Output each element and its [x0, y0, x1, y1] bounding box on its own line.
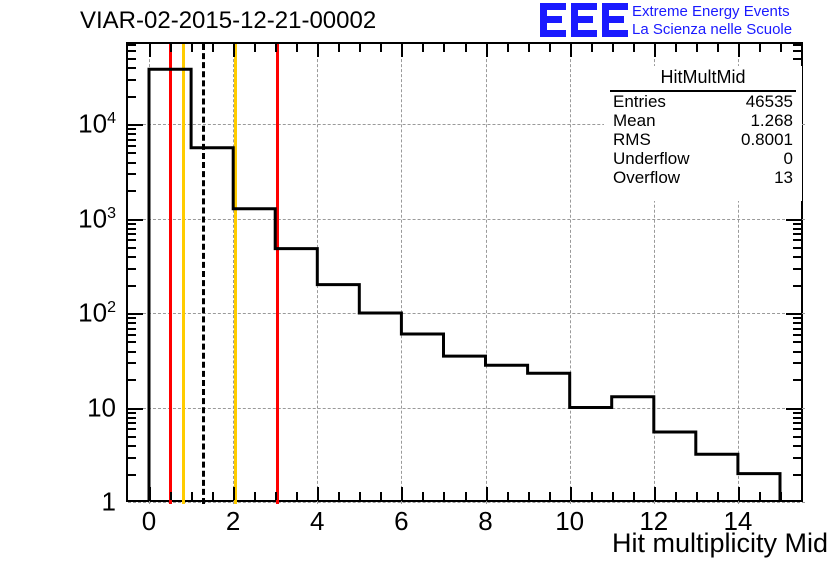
y-axis-tick [793, 247, 801, 249]
y-tick-label: 104 [58, 109, 116, 140]
x-axis-tick [338, 492, 340, 500]
y-tick-label: 1 [58, 487, 116, 518]
y-axis-tick [793, 351, 801, 353]
y-axis-tick [128, 124, 143, 126]
gridline-horizontal [128, 502, 805, 503]
eee-logo: Extreme Energy Events La Scienza nelle S… [540, 2, 832, 42]
logo-text: Extreme Energy Events La Scienza nelle S… [632, 3, 792, 39]
y-axis-tick [128, 228, 136, 230]
x-axis-tick [275, 44, 277, 52]
x-axis-tick [549, 492, 551, 500]
y-axis-tick [793, 44, 801, 46]
x-axis-tick [233, 44, 235, 57]
x-tick-label: 8 [478, 506, 492, 537]
y-axis-tick [793, 239, 801, 241]
y-axis-tick [793, 417, 801, 419]
stats-value: 46535 [746, 92, 793, 111]
x-axis-tick [401, 487, 403, 500]
y-axis-tick [793, 457, 801, 459]
y-axis-tick [128, 223, 136, 225]
x-axis-tick [507, 492, 509, 500]
logo-line-2: La Scienza nelle Scuole [632, 21, 792, 39]
x-axis-tick [422, 492, 424, 500]
x-axis-tick [296, 492, 298, 500]
stats-rows: Entries46535Mean1.268RMS0.8001Underflow0… [604, 92, 802, 187]
y-axis-tick [128, 145, 136, 147]
y-axis-tick [793, 474, 801, 476]
stats-row: Mean1.268 [604, 111, 802, 130]
x-axis-tick [591, 492, 593, 500]
y-axis-tick [793, 228, 801, 230]
stats-value: 1.268 [750, 111, 793, 130]
y-axis-tick [793, 285, 801, 287]
y-axis-tick [128, 67, 136, 69]
y-axis-tick [793, 50, 801, 52]
x-tick-label: 10 [555, 506, 584, 537]
x-axis-tick [338, 44, 340, 52]
x-axis-tick [422, 44, 424, 52]
x-tick-label: 4 [310, 506, 324, 537]
x-axis-tick [149, 487, 151, 500]
x-tick-label: 2 [226, 506, 240, 537]
y-axis-tick [128, 128, 136, 130]
x-axis-tick [633, 492, 635, 500]
x-axis-tick [191, 44, 193, 52]
y-axis-tick [128, 44, 136, 46]
x-axis-tick [780, 44, 782, 52]
y-axis-tick [793, 233, 801, 235]
x-axis-tick [507, 44, 509, 52]
x-tick-label: 0 [142, 506, 156, 537]
y-axis-tick [128, 317, 136, 319]
y-axis-tick [128, 417, 136, 419]
y-axis-tick [128, 322, 136, 324]
y-axis-tick [793, 341, 801, 343]
stats-row: Entries46535 [604, 92, 802, 111]
root-canvas: VIAR-02-2015-12-21-00002 Extreme Energy … [0, 0, 836, 572]
x-axis-tick [675, 44, 677, 52]
page-title: VIAR-02-2015-12-21-00002 [80, 7, 376, 35]
y-axis-tick [793, 362, 801, 364]
x-axis-tick [612, 492, 614, 500]
eee-mark-icon [540, 2, 628, 38]
y-axis-tick [793, 58, 801, 60]
x-axis-tick [486, 44, 488, 57]
y-axis-tick [793, 428, 801, 430]
y-axis-tick [793, 223, 801, 225]
x-axis-tick [738, 44, 740, 57]
y-axis-tick [128, 428, 136, 430]
x-axis-tick [717, 44, 719, 52]
x-axis-tick [696, 492, 698, 500]
logo-line-1: Extreme Energy Events [632, 3, 792, 21]
x-axis-tick [738, 487, 740, 500]
stats-row: Underflow0 [604, 149, 802, 168]
x-axis-tick [212, 44, 214, 52]
y-axis-tick [128, 152, 136, 154]
y-axis-tick [128, 457, 136, 459]
x-axis-tick [465, 44, 467, 52]
y-axis-tick [793, 412, 801, 414]
y-axis-tick [128, 436, 136, 438]
y-axis-tick [128, 285, 136, 287]
x-axis-tick [233, 487, 235, 500]
x-axis-tick [359, 492, 361, 500]
x-axis-tick [528, 44, 530, 52]
y-tick-label: 102 [58, 298, 116, 329]
y-axis-tick [786, 219, 801, 221]
x-axis-tick [191, 492, 193, 500]
stats-key: Mean [613, 111, 656, 130]
x-axis-tick [443, 44, 445, 52]
y-axis-tick [128, 474, 136, 476]
stats-value: 0.8001 [741, 130, 793, 149]
x-axis-tick [591, 44, 593, 52]
stats-title: HitMultMid [610, 66, 796, 92]
x-axis-tick [170, 44, 172, 52]
x-axis-tick [296, 44, 298, 52]
x-axis-tick [443, 492, 445, 500]
y-axis-tick [128, 445, 136, 447]
y-axis-tick [128, 328, 136, 330]
x-axis-tick [570, 44, 572, 57]
x-axis-tick [696, 44, 698, 52]
x-axis-tick [612, 44, 614, 52]
y-axis-tick [128, 190, 136, 192]
x-axis-tick [486, 487, 488, 500]
y-axis-tick [793, 317, 801, 319]
x-axis-tick [254, 492, 256, 500]
x-axis-tick [528, 492, 530, 500]
x-axis-tick [380, 44, 382, 52]
x-axis-tick [654, 487, 656, 500]
y-axis-tick [128, 313, 143, 315]
y-axis-tick [128, 268, 136, 270]
y-axis-tick [793, 256, 801, 258]
y-axis-tick [128, 247, 136, 249]
x-axis-tick [780, 492, 782, 500]
x-axis-tick [675, 492, 677, 500]
y-axis-tick [786, 408, 801, 410]
x-tick-label: 6 [394, 506, 408, 537]
y-axis-tick [128, 362, 136, 364]
x-axis-tick [359, 44, 361, 52]
stats-value: 0 [784, 149, 793, 168]
x-axis-tick [465, 492, 467, 500]
y-axis-tick [793, 322, 801, 324]
y-axis-tick [793, 445, 801, 447]
y-axis-tick [128, 96, 136, 98]
x-axis-title: Hit multiplicity Mid [612, 528, 828, 559]
y-axis-tick [128, 256, 136, 258]
y-axis-tick [128, 351, 136, 353]
x-axis-tick [570, 487, 572, 500]
x-axis-tick [170, 492, 172, 500]
y-axis-tick [793, 334, 801, 336]
y-axis-tick [128, 133, 136, 135]
y-tick-label: 10 [58, 392, 116, 423]
y-axis-tick [793, 379, 801, 381]
y-axis-tick [128, 422, 136, 424]
stats-key: RMS [613, 130, 651, 149]
x-axis-tick [549, 44, 551, 52]
y-axis-tick [128, 173, 136, 175]
y-tick-label: 103 [58, 203, 116, 234]
stats-row: RMS0.8001 [604, 130, 802, 149]
y-axis-tick [128, 408, 143, 410]
x-axis-tick [254, 44, 256, 52]
stats-key: Overflow [613, 168, 680, 187]
y-axis-tick [128, 334, 136, 336]
x-axis-tick [717, 492, 719, 500]
y-axis-tick [128, 341, 136, 343]
stats-row: Overflow13 [604, 168, 802, 187]
x-axis-tick [759, 492, 761, 500]
stats-box: HitMultMid Entries46535Mean1.268RMS0.800… [604, 66, 802, 201]
x-axis-tick [401, 44, 403, 57]
y-axis-tick [128, 412, 136, 414]
x-axis-tick [275, 492, 277, 500]
y-axis-tick [793, 268, 801, 270]
y-axis-tick [793, 328, 801, 330]
y-axis-tick [128, 162, 136, 164]
y-axis-tick [793, 436, 801, 438]
x-axis-tick [317, 487, 319, 500]
x-axis-tick [654, 44, 656, 57]
x-axis-tick [212, 492, 214, 500]
y-axis-tick [128, 233, 136, 235]
y-axis-tick [128, 139, 136, 141]
y-axis-tick [793, 422, 801, 424]
y-axis-tick [786, 313, 801, 315]
x-axis-tick [149, 44, 151, 57]
x-axis-tick [380, 492, 382, 500]
x-axis-tick [317, 44, 319, 57]
y-axis-tick [128, 50, 136, 52]
x-axis-tick [633, 44, 635, 52]
y-axis-tick [128, 58, 136, 60]
x-axis-tick [759, 44, 761, 52]
y-axis-tick [128, 79, 136, 81]
stats-value: 13 [774, 168, 793, 187]
y-axis-tick [128, 219, 143, 221]
stats-key: Underflow [613, 149, 690, 168]
y-axis-tick [128, 239, 136, 241]
stats-key: Entries [613, 92, 666, 111]
y-axis-tick [128, 379, 136, 381]
